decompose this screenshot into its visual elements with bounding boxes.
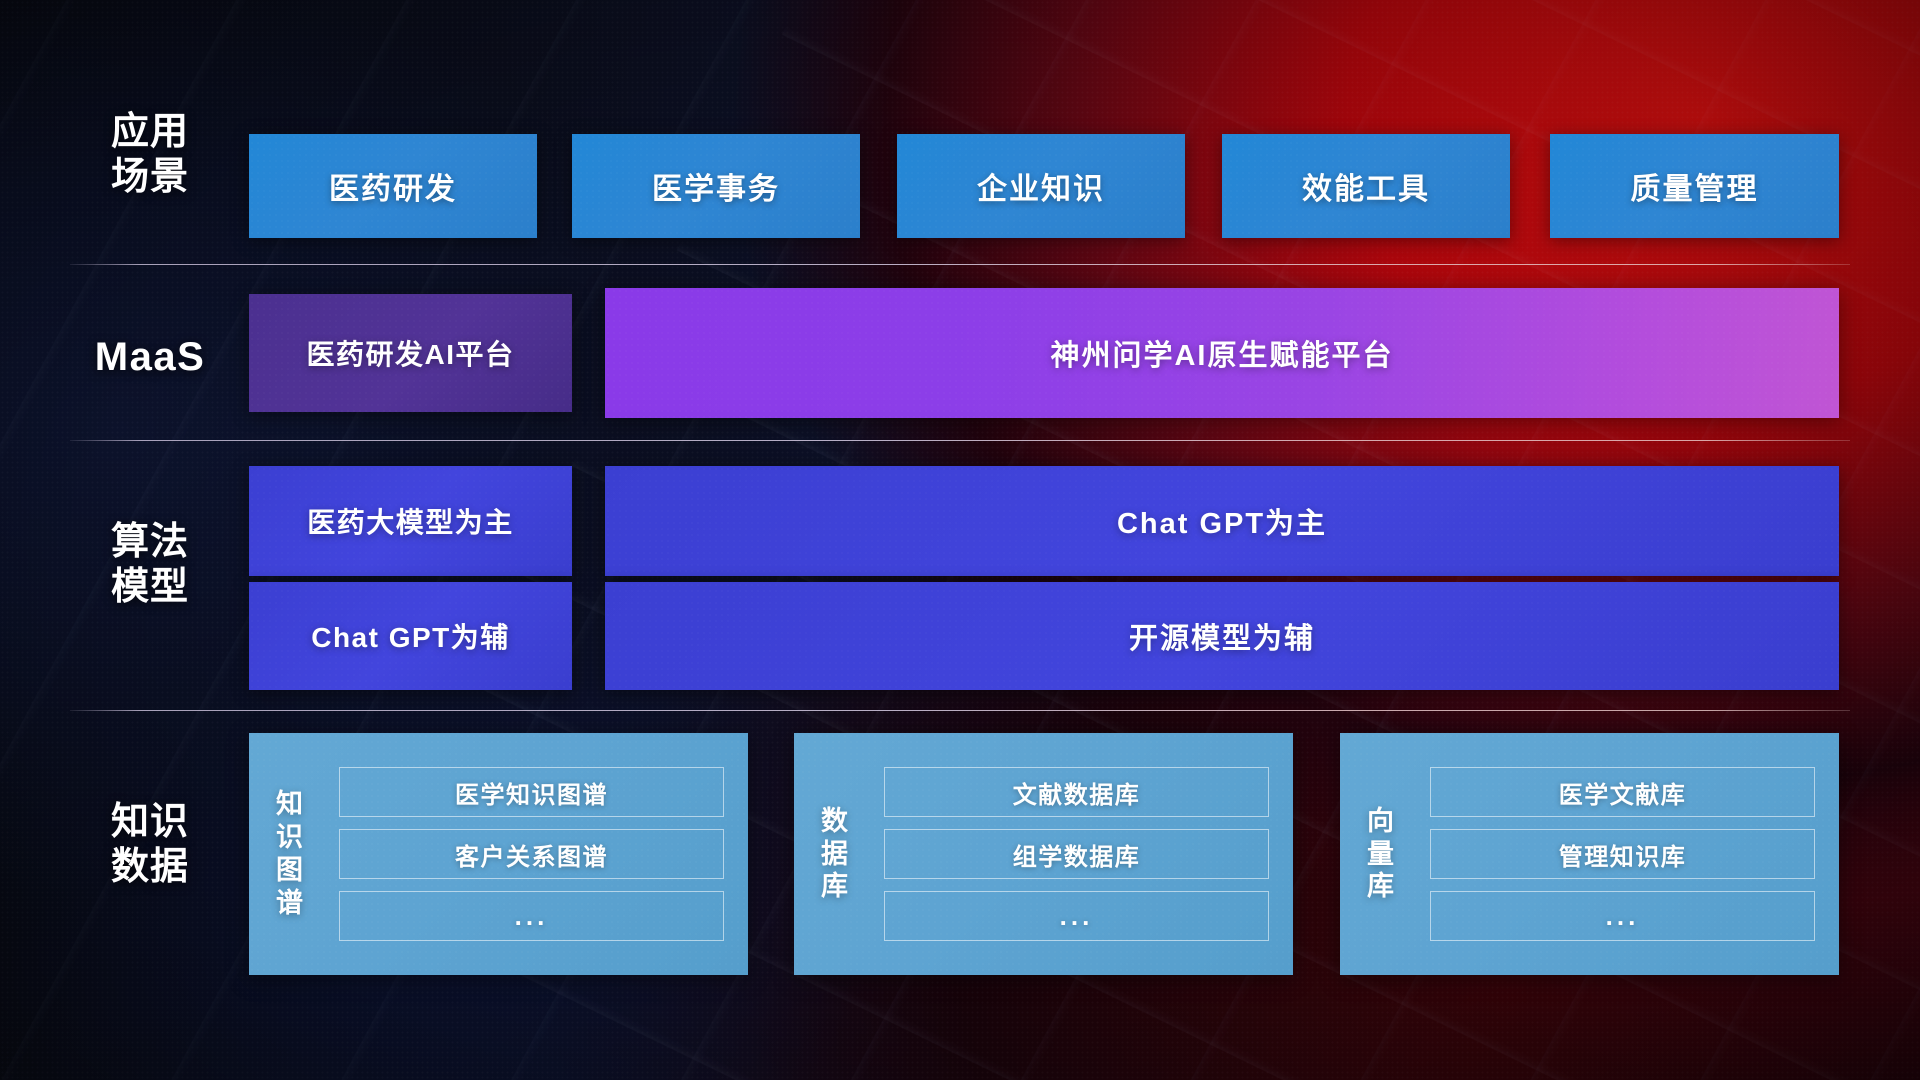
row-label-maas: MaaS [70, 334, 230, 381]
algo-cell-left-secondary-label: Chat GPT为辅 [311, 616, 510, 656]
knowledge-card-0-item-0[interactable]: 医学知识图谱 [339, 767, 724, 817]
divider-maas-algorithm [70, 440, 1850, 441]
algo-cell-right-secondary[interactable]: 开源模型为辅 [605, 582, 1839, 690]
knowledge-card-knowledge-graph[interactable]: 知识图谱 医学知识图谱 客户关系图谱 ... [249, 733, 748, 975]
knowledge-card-2-title: 向量库 [1340, 733, 1424, 975]
maas-platform-drug-rd[interactable]: 医药研发AI平台 [249, 294, 572, 412]
divider-algorithm-knowledge [70, 710, 1850, 711]
knowledge-card-0-items: 医学知识图谱 客户关系图谱 ... [333, 733, 748, 975]
maas-platform-shenzhou[interactable]: 神州问学AI原生赋能平台 [605, 288, 1839, 418]
knowledge-card-vector-store[interactable]: 向量库 医学文献库 管理知识库 ... [1340, 733, 1839, 975]
knowledge-card-0-item-1[interactable]: 客户关系图谱 [339, 829, 724, 879]
algo-cell-right-primary-label: Chat GPT为主 [1117, 500, 1327, 542]
knowledge-card-2-item-1[interactable]: 管理知识库 [1430, 829, 1815, 879]
app-tile-3[interactable]: 效能工具 [1222, 134, 1510, 238]
algo-cell-left-primary[interactable]: 医药大模型为主 [249, 466, 572, 576]
knowledge-card-database[interactable]: 数据库 文献数据库 组学数据库 ... [794, 733, 1293, 975]
algo-cell-left-secondary[interactable]: Chat GPT为辅 [249, 582, 572, 690]
knowledge-card-0-item-2[interactable]: ... [339, 891, 724, 941]
knowledge-card-2-item-2[interactable]: ... [1430, 891, 1815, 941]
knowledge-card-2-items: 医学文献库 管理知识库 ... [1424, 733, 1839, 975]
algo-cell-right-secondary-label: 开源模型为辅 [1129, 615, 1315, 657]
divider-application-maas [70, 264, 1850, 265]
knowledge-card-1-item-1[interactable]: 组学数据库 [884, 829, 1269, 879]
app-tile-3-label: 效能工具 [1302, 164, 1430, 208]
maas-platform-shenzhou-label: 神州问学AI原生赋能平台 [1050, 332, 1393, 374]
app-tile-1-label: 医学事务 [652, 164, 780, 208]
row-label-algorithm-model: 算法模型 [70, 520, 230, 610]
row-label-knowledge-data: 知识数据 [70, 800, 230, 890]
app-tile-2[interactable]: 企业知识 [897, 134, 1185, 238]
maas-platform-drug-rd-label: 医药研发AI平台 [306, 333, 514, 373]
algo-cell-left-primary-label: 医药大模型为主 [307, 501, 514, 541]
app-tile-2-label: 企业知识 [977, 164, 1105, 208]
knowledge-card-1-item-0[interactable]: 文献数据库 [884, 767, 1269, 817]
app-tile-0[interactable]: 医药研发 [249, 134, 537, 238]
algo-cell-right-primary[interactable]: Chat GPT为主 [605, 466, 1839, 576]
app-tile-4[interactable]: 质量管理 [1550, 134, 1839, 238]
row-label-application-scenario: 应用场景 [70, 110, 230, 200]
knowledge-card-0-title: 知识图谱 [249, 733, 333, 975]
knowledge-card-2-item-0[interactable]: 医学文献库 [1430, 767, 1815, 817]
knowledge-card-1-items: 文献数据库 组学数据库 ... [878, 733, 1293, 975]
app-tile-1[interactable]: 医学事务 [572, 134, 860, 238]
app-tile-4-label: 质量管理 [1631, 164, 1759, 208]
knowledge-card-1-item-2[interactable]: ... [884, 891, 1269, 941]
app-tile-0-label: 医药研发 [329, 164, 457, 208]
knowledge-card-1-title: 数据库 [794, 733, 878, 975]
architecture-diagram-slide: 应用场景 医药研发 医学事务 企业知识 效能工具 质量管理 MaaS 医药研发A… [0, 0, 1920, 1080]
